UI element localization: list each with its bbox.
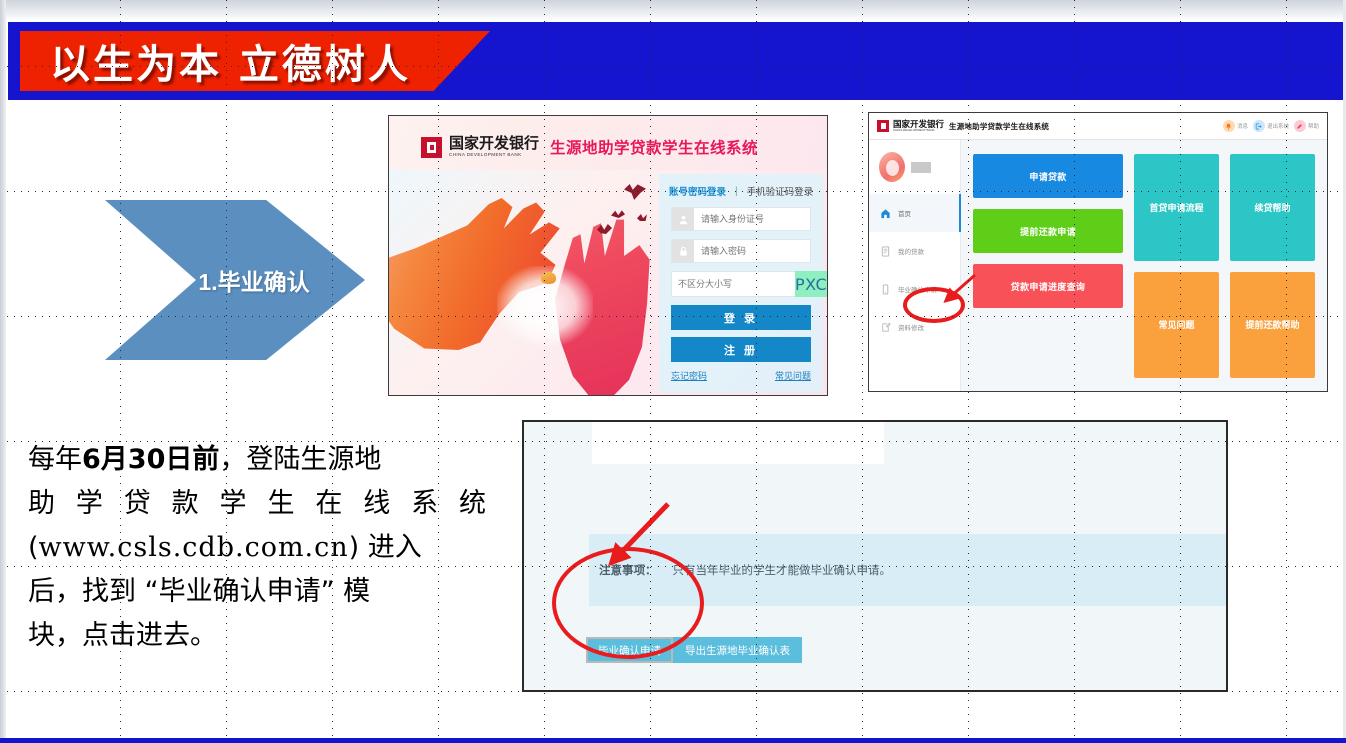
title-banner: 以生为本 立德树人 bbox=[20, 31, 490, 91]
password-field-row[interactable] bbox=[671, 239, 811, 263]
login-hero-image: 账号密码登录 | 手机验证码登录 bbox=[389, 170, 827, 396]
bird-icon bbox=[637, 214, 647, 221]
edit-icon bbox=[880, 321, 891, 334]
tab-separator: | bbox=[735, 186, 738, 197]
tab-sms-code[interactable]: 手机验证码登录 bbox=[747, 184, 814, 198]
faq-link[interactable]: 常见问题 bbox=[775, 369, 811, 382]
notice-label: 注意事项： bbox=[599, 562, 657, 578]
header-action-label: 帮助 bbox=[1308, 122, 1319, 130]
graduation-confirm-screenshot: 注意事项： 只有当年毕业的学生才能做毕业确认申请。 毕业确认申请 导出生源地毕业… bbox=[522, 420, 1228, 692]
bell-icon bbox=[1223, 120, 1235, 132]
captcha-row: PXCp bbox=[671, 271, 811, 297]
dashboard-sidebar: 首页 我的贷款 毕业确认申请 bbox=[869, 140, 961, 392]
bank-logo: 国家开发银行 CHINA DEVELOPMENT BANK 生源地助学贷款学生在… bbox=[421, 136, 758, 158]
tile-early-repayment-help[interactable]: 提前还款帮助 bbox=[1230, 272, 1315, 379]
sidebar-item-label: 毕业确认申请 bbox=[898, 284, 937, 294]
login-tabs: 账号密码登录 | 手机验证码登录 bbox=[671, 184, 811, 198]
dashboard-header: 国家开发银行 CHINA DEVELOPMENT BANK 生源地助学贷款学生在… bbox=[869, 113, 1327, 140]
cdb-logo-icon bbox=[421, 137, 442, 158]
register-button[interactable]: 注 册 bbox=[671, 337, 811, 362]
body-line-1: 每年6月30日前，登陆生源地 bbox=[28, 438, 486, 482]
presentation-slide: 以生为本 立德树人 1.毕业确认 每年6月30日前，登陆生源地 助学贷款学生在线… bbox=[0, 0, 1346, 743]
header-action-logout[interactable]: 退出系统 bbox=[1253, 120, 1289, 132]
id-number-input[interactable] bbox=[694, 208, 818, 230]
bird-icon bbox=[624, 184, 646, 200]
page-title: 以生为本 立德树人 bbox=[50, 32, 411, 90]
dashboard-body: 首页 我的贷款 毕业确认申请 bbox=[869, 140, 1327, 392]
content-top-strip bbox=[592, 422, 884, 464]
graduation-action-buttons: 毕业确认申请 导出生源地毕业确认表 bbox=[586, 637, 802, 663]
bird-icon bbox=[611, 210, 625, 218]
dashboard-main: 申请贷款 提前还款申请 贷款申请进度查询 首贷申请流程 续贷帮助 常见问题 提前… bbox=[961, 140, 1327, 392]
body-line-4: 后，找到 “毕业确认申请” 模 bbox=[28, 570, 486, 614]
help-icon bbox=[1294, 120, 1306, 132]
body-paragraph: 每年6月30日前，登陆生源地 助学贷款学生在线系统 (www.csls.cdb.… bbox=[28, 438, 486, 658]
login-button[interactable]: 登 录 bbox=[671, 305, 811, 330]
dashboard-bank-logo: 国家开发银行 CHINA DEVELOPMENT BANK bbox=[877, 120, 944, 133]
logout-icon bbox=[1253, 120, 1265, 132]
tile-apply-loan[interactable]: 申请贷款 bbox=[973, 154, 1123, 198]
forgot-password-link[interactable]: 忘记密码 bbox=[671, 369, 707, 382]
tab-account-password[interactable]: 账号密码登录 bbox=[669, 184, 726, 198]
dashboard-system-title: 生源地助学贷款学生在线系统 bbox=[949, 121, 1049, 132]
bank-name-en: CHINA DEVELOPMENT BANK bbox=[893, 129, 944, 132]
user-profile bbox=[869, 140, 960, 194]
tile-early-repayment[interactable]: 提前还款申请 bbox=[973, 209, 1123, 253]
header-action-help[interactable]: 帮助 bbox=[1294, 120, 1319, 132]
primary-action-tiles: 申请贷款 提前还款申请 贷款申请进度查询 bbox=[973, 154, 1123, 378]
sidebar-item-label: 首页 bbox=[898, 208, 911, 218]
tile-faq[interactable]: 常见问题 bbox=[1134, 272, 1219, 379]
bank-name-cn: 国家开发银行 bbox=[893, 120, 944, 129]
notice-text: 只有当年毕业的学生才能做毕业确认申请。 bbox=[673, 562, 892, 578]
home-icon bbox=[880, 207, 891, 220]
avatar bbox=[879, 152, 905, 182]
body-line-2: 助学贷款学生在线系统 bbox=[28, 482, 486, 526]
sidebar-item-home[interactable]: 首页 bbox=[869, 194, 960, 232]
bank-name-en: CHINA DEVELOPMENT BANK bbox=[449, 153, 539, 158]
body-line-3: (www.csls.cdb.com.cn) 进入 bbox=[28, 526, 486, 570]
login-form: 账号密码登录 | 手机验证码登录 bbox=[659, 174, 823, 392]
login-links: 忘记密码 常见问题 bbox=[671, 369, 811, 382]
sidebar-item-graduation-confirm[interactable]: 毕业确认申请 bbox=[869, 270, 960, 308]
lock-icon bbox=[672, 240, 694, 262]
tile-first-loan-process[interactable]: 首贷申请流程 bbox=[1134, 154, 1219, 261]
cdb-logo-icon bbox=[877, 120, 889, 132]
header-action-label: 消息 bbox=[1237, 122, 1248, 130]
sidebar-item-profile-edit[interactable]: 资料修改 bbox=[869, 308, 960, 346]
body-line-5: 块，点击进去。 bbox=[28, 614, 486, 658]
password-input[interactable] bbox=[694, 240, 818, 262]
bank-name-cn: 国家开发银行 bbox=[449, 136, 539, 151]
header-action-message[interactable]: 消息 bbox=[1223, 120, 1248, 132]
tile-renewal-help[interactable]: 续贷帮助 bbox=[1230, 154, 1315, 261]
captcha-input[interactable] bbox=[671, 271, 795, 297]
thumb-highlight bbox=[541, 272, 556, 284]
mobile-icon bbox=[880, 283, 891, 296]
secondary-action-tiles: 首贷申请流程 续贷帮助 常见问题 提前还款帮助 bbox=[1134, 154, 1315, 378]
slide-top-edge bbox=[0, 0, 1346, 20]
header-actions: 消息 退出系统 帮助 bbox=[1223, 120, 1319, 132]
login-page-screenshot: 国家开发银行 CHINA DEVELOPMENT BANK 生源地助学贷款学生在… bbox=[388, 115, 828, 396]
graduation-confirm-apply-button[interactable]: 毕业确认申请 bbox=[586, 637, 673, 663]
captcha-image[interactable]: PXCp bbox=[795, 271, 827, 297]
notice-banner: 注意事项： 只有当年毕业的学生才能做毕业确认申请。 bbox=[589, 534, 1226, 606]
user-name-redacted bbox=[911, 162, 931, 173]
login-system-title: 生源地助学贷款学生在线系统 bbox=[550, 136, 758, 158]
document-icon bbox=[880, 245, 891, 258]
id-number-field-row[interactable] bbox=[671, 207, 811, 231]
slide-left-edge bbox=[0, 0, 6, 743]
tile-loan-progress-query[interactable]: 贷款申请进度查询 bbox=[973, 264, 1123, 308]
dashboard-screenshot: 国家开发银行 CHINA DEVELOPMENT BANK 生源地助学贷款学生在… bbox=[868, 112, 1328, 392]
step-chevron: 1.毕业确认 bbox=[105, 200, 365, 360]
step-chevron-label: 1.毕业确认 bbox=[160, 263, 309, 297]
slide-bottom-strip bbox=[0, 738, 1346, 743]
export-graduation-form-button[interactable]: 导出生源地毕业确认表 bbox=[673, 637, 802, 663]
user-icon bbox=[672, 208, 694, 230]
login-header: 国家开发银行 CHINA DEVELOPMENT BANK 生源地助学贷款学生在… bbox=[389, 116, 827, 170]
sidebar-item-label: 资料修改 bbox=[898, 322, 924, 332]
sidebar-item-label: 我的贷款 bbox=[898, 246, 924, 256]
sidebar-item-my-loans[interactable]: 我的贷款 bbox=[869, 232, 960, 270]
header-action-label: 退出系统 bbox=[1267, 122, 1289, 130]
